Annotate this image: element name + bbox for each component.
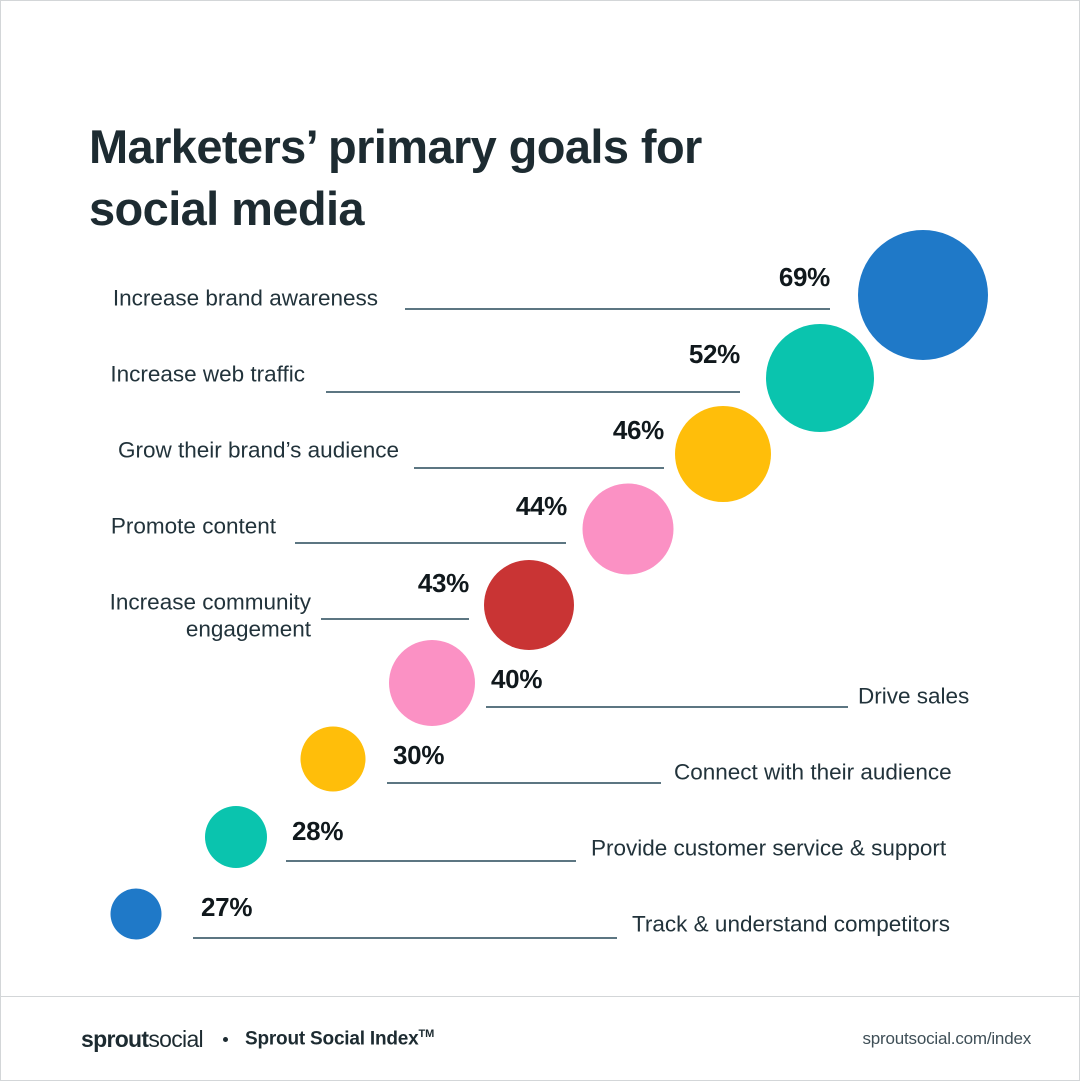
row-label: Provide customer service & support [591, 834, 946, 861]
row-value: 28% [292, 816, 343, 847]
row-label: Grow their brand’s audience [118, 436, 399, 463]
row-value: 52% [689, 339, 740, 370]
bubble-4 [583, 484, 674, 575]
row-connector-line [486, 706, 848, 708]
footer-index-label: Sprout Social IndexTM [245, 1028, 434, 1050]
row-value: 44% [516, 491, 567, 522]
row-connector-line [387, 782, 661, 784]
row-connector-line [193, 937, 617, 939]
sprout-social-logo: sproutsocial [81, 1026, 203, 1053]
row-label: Drive sales [858, 682, 969, 709]
logo-word-social: social [148, 1026, 203, 1052]
bubble-8 [205, 806, 267, 868]
bubble-2 [766, 324, 874, 432]
bubble-3 [675, 406, 771, 502]
row-connector-line [286, 860, 576, 862]
bubble-5 [484, 560, 574, 650]
row-connector-line [295, 542, 566, 544]
footer-url: sproutsocial.com/index [862, 1029, 1031, 1049]
row-connector-line [405, 308, 830, 310]
row-label: Track & understand competitors [632, 910, 950, 937]
footer-index-text: Sprout Social Index [245, 1028, 419, 1049]
bubble-chart: Increase brand awareness69%Increase web … [1, 1, 1080, 996]
row-connector-line [321, 618, 469, 620]
row-value: 43% [418, 568, 469, 599]
row-label: Increase community engagement [110, 589, 311, 644]
row-connector-line [414, 467, 664, 469]
bubble-7 [301, 727, 366, 792]
row-label: Increase brand awareness [113, 284, 378, 311]
footer: sproutsocial Sprout Social IndexTM sprou… [1, 996, 1079, 1081]
footer-separator-dot [223, 1037, 228, 1042]
row-label: Increase web traffic [110, 360, 305, 387]
row-value: 46% [613, 415, 664, 446]
logo-word-sprout: sprout [81, 1026, 148, 1052]
row-label: Connect with their audience [674, 758, 952, 785]
bubble-1 [858, 230, 988, 360]
row-label: Promote content [111, 512, 276, 539]
row-value: 40% [491, 664, 542, 695]
infographic-card: Marketers’ primary goals for social medi… [0, 0, 1080, 1081]
bubble-9 [111, 889, 162, 940]
row-value: 69% [779, 262, 830, 293]
row-connector-line [326, 391, 740, 393]
bubble-6 [389, 640, 475, 726]
row-value: 27% [201, 892, 252, 923]
row-value: 30% [393, 740, 444, 771]
trademark-symbol: TM [419, 1028, 434, 1040]
